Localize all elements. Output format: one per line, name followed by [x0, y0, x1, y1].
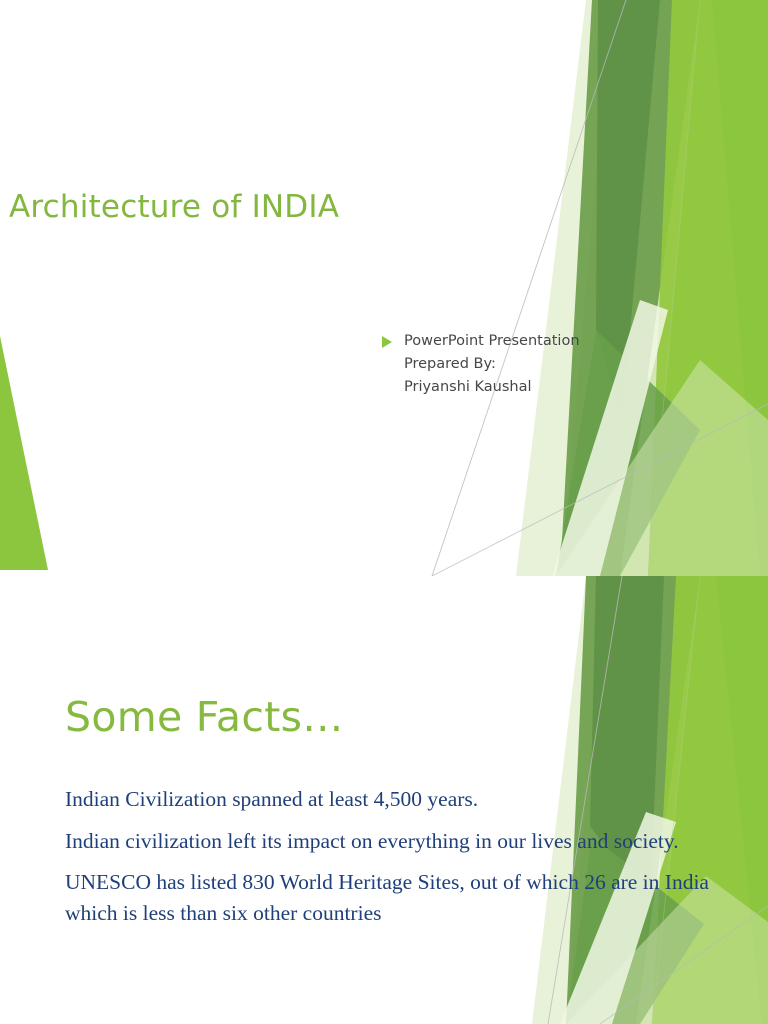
list-item: Indian Civilization spanned at least 4,5…	[65, 784, 715, 815]
slide1-title: Architecture of INDIA	[9, 190, 529, 226]
list-item: UNESCO has listed 830 World Heritage Sit…	[65, 867, 715, 928]
slide1-right-decoration	[0, 0, 768, 576]
triangle-right-icon	[382, 336, 392, 348]
slide-2: Some Facts… Indian Civilization spanned …	[0, 576, 768, 1024]
document-page: Architecture of INDIA PowerPoint Present…	[0, 0, 768, 1024]
slide2-title: Some Facts…	[65, 695, 344, 740]
list-item: Indian civilization left its impact on e…	[65, 826, 715, 857]
slide1-subtitle-text: PowerPoint Presentation Prepared By: Pri…	[404, 330, 580, 399]
slide-1: Architecture of INDIA PowerPoint Present…	[0, 0, 768, 576]
slide1-subtitle-block: PowerPoint Presentation Prepared By: Pri…	[382, 330, 672, 399]
slide2-body-list: Indian Civilization spanned at least 4,5…	[65, 784, 715, 939]
